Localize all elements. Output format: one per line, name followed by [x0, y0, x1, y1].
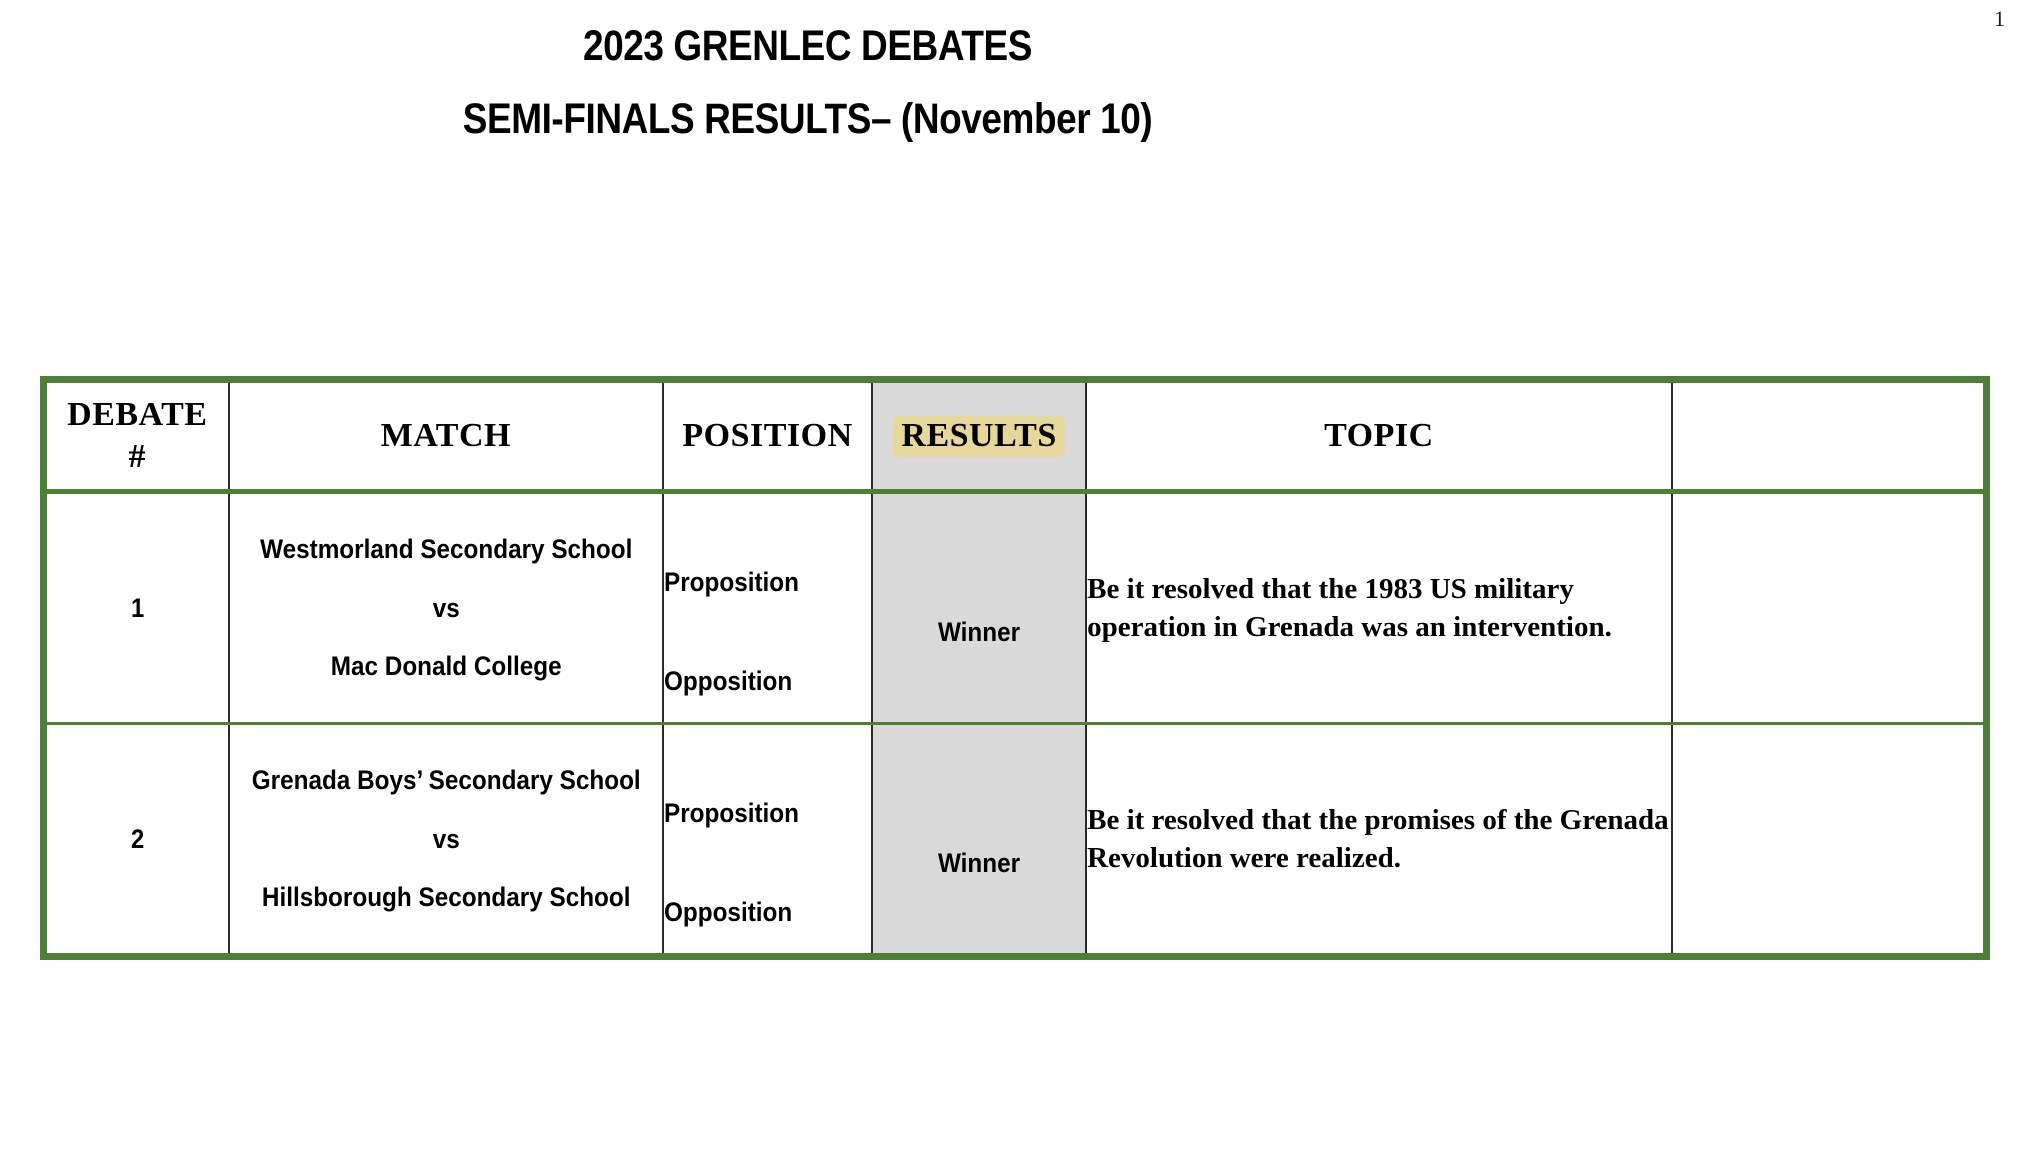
column-header-results: RESULTS: [872, 380, 1086, 492]
table-header-row: DEBATE # MATCH POSITION RESULTS TOPIC: [44, 380, 1987, 492]
topic-cell: Be it resolved that the promises of the …: [1086, 724, 1672, 957]
result-label: Winner: [884, 848, 1075, 879]
team-a-label: Westmorland Secondary School: [251, 532, 640, 567]
position-opposition: Opposition: [664, 897, 871, 928]
column-header-debate-line1: DEBATE: [47, 394, 228, 437]
extra-cell: [1672, 492, 1987, 724]
match-spacer: [251, 625, 640, 649]
position-cell: Proposition Opposition: [663, 492, 872, 724]
results-cell: Winner: [872, 492, 1086, 724]
column-header-results-label: RESULTS: [893, 416, 1064, 457]
team-b-label: Mac Donald College: [251, 649, 640, 684]
match-spacer: [251, 856, 640, 880]
column-header-debate-number: DEBATE #: [44, 380, 229, 492]
page-subtitle-main: SEMI-FINALS RESULTS: [463, 95, 871, 143]
title-block: 2023 GRENLEC DEBATES SEMI-FINALS RESULTS…: [0, 22, 1615, 145]
team-a-label: Grenada Boys’ Secondary School: [251, 763, 640, 798]
position-proposition-label: Proposition: [664, 798, 799, 829]
topic-cell: Be it resolved that the 1983 US military…: [1086, 492, 1672, 724]
page-subtitle-date: – (November 10): [871, 95, 1152, 143]
page-number: 1: [1994, 8, 2005, 30]
position-opposition: Opposition: [664, 666, 871, 697]
debate-number-cell: 1: [55, 492, 218, 724]
position-proposition: Proposition: [664, 798, 871, 829]
versus-label: vs: [251, 591, 640, 626]
semi-finals-results-table: DEBATE # MATCH POSITION RESULTS TOPIC 1 …: [40, 376, 1990, 960]
results-cell: Winner: [872, 724, 1086, 957]
debate-number-cell: 2: [55, 724, 218, 957]
column-header-match: MATCH: [229, 380, 663, 492]
column-header-position: POSITION: [663, 380, 872, 492]
position-cell: Proposition Opposition: [663, 724, 872, 957]
position-proposition: Proposition: [664, 567, 871, 598]
page-subtitle: SEMI-FINALS RESULTS– (November 10): [113, 95, 1502, 144]
position-proposition-label: Proposition: [664, 567, 799, 598]
table-row: 1 Westmorland Secondary School vs Mac Do…: [44, 492, 1987, 724]
column-header-topic: TOPIC: [1086, 380, 1672, 492]
match-cell: Westmorland Secondary School vs Mac Dona…: [229, 492, 663, 724]
position-opposition-label: Opposition: [664, 897, 792, 928]
result-label: Winner: [884, 617, 1075, 648]
team-b-label: Hillsborough Secondary School: [251, 880, 640, 915]
versus-label: vs: [251, 822, 640, 857]
extra-cell: [1672, 724, 1987, 957]
match-cell: Grenada Boys’ Secondary School vs Hillsb…: [229, 724, 663, 957]
match-spacer: [251, 798, 640, 822]
position-opposition-label: Opposition: [664, 666, 792, 697]
page-title: 2023 GRENLEC DEBATES: [113, 22, 1502, 71]
match-spacer: [251, 567, 640, 591]
column-header-debate-line2: #: [47, 436, 228, 479]
column-header-extra: [1672, 380, 1987, 492]
table-row: 2 Grenada Boys’ Secondary School vs Hill…: [44, 724, 1987, 957]
